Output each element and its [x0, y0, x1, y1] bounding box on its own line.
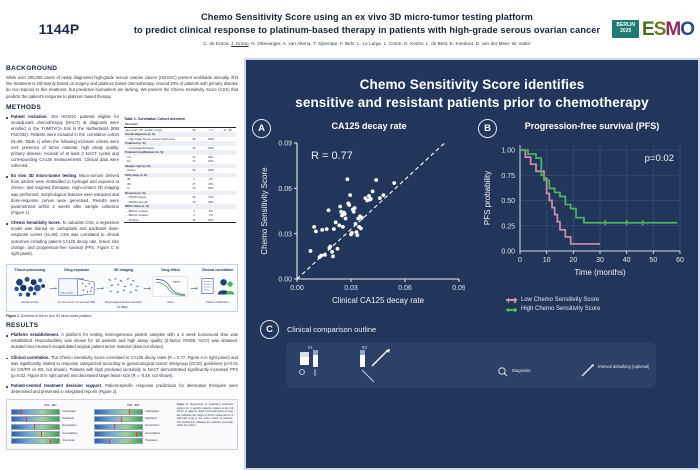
- right-panel-headline: Chemo Sensitivity Score identifies sensi…: [246, 60, 698, 112]
- step-sublabel: Ex vivo tumor in preserved TME: [58, 301, 96, 304]
- background-paragraph: While over 200,000 cases of newly diagno…: [6, 75, 238, 100]
- scatter-point: [327, 208, 331, 212]
- drug-range-bar: [11, 424, 60, 430]
- scatter-point: [350, 231, 354, 235]
- correlation-annotation: R = 0.77: [311, 150, 353, 162]
- scatter-point: [337, 223, 341, 227]
- drug-name-label: Gemcitabine: [145, 433, 160, 436]
- y-tick-label: 0.75: [501, 173, 515, 180]
- legend-label-low: Low Chemo Sensitivity Score: [521, 296, 599, 306]
- scatter-point: [355, 233, 359, 237]
- km-legend: Low Chemo Sensitivity Score High Chemo S…: [472, 296, 698, 315]
- workflow-duration: 14 days: [11, 305, 233, 309]
- bullet-lead: Clinical correlation.: [11, 355, 50, 360]
- pfs-km-svg: 0.000.250.500.751.000102030405060p=0.02P…: [478, 133, 692, 293]
- x-tick-label: 10: [543, 257, 551, 264]
- figure1-caption: Figure 1. Overview of the ex vivo 3D mic…: [6, 314, 238, 318]
- figure1-workflow: Tissue processing: [6, 264, 238, 312]
- workflow-step-drug-effect: Drug effect patient Dose: [152, 268, 190, 304]
- y-tick-label: 0.06: [278, 186, 292, 193]
- scatter-point: [378, 196, 382, 200]
- drug-response-row: Carboplatin: [11, 409, 90, 415]
- drug-range-bar: [94, 416, 143, 422]
- headline-line1: Chemo Sensitivity Score identifies: [260, 76, 684, 94]
- patient-percentile-marker: [21, 409, 22, 414]
- x-tick-label: 0: [518, 257, 522, 264]
- drug-panel-left: VCL_567 CarboplatinPaclitaxelDoxorubicin…: [11, 403, 90, 445]
- scatter-point: [328, 244, 332, 248]
- scatter-point: [374, 178, 378, 182]
- arrow-right-icon: ⟶: [96, 286, 105, 292]
- bullet-lead: Patient inclusion.: [11, 114, 48, 119]
- drug-response-row: Doxorubicin: [94, 424, 173, 430]
- congress-location-badge: BERLIN 2025: [612, 20, 639, 38]
- marker-1-label: #1: [308, 345, 313, 350]
- scatter-point: [382, 193, 386, 197]
- esmo-wordmark: ESMO: [642, 20, 694, 39]
- step-sublabel: Ascites sample: [11, 301, 49, 304]
- drug-response-row: Gemcitabine: [11, 431, 90, 437]
- cell-label: - Wildtype: [124, 218, 186, 223]
- cell-value: [219, 218, 236, 223]
- panel-c: C Clinical comparison outline: [246, 320, 698, 388]
- cell-value: 84%: [202, 218, 219, 223]
- presenting-author: J. Kroep: [231, 41, 249, 46]
- methods-row: Patient inclusion. 104 HGSOC patients el…: [6, 114, 238, 261]
- authors-pre: C. de Kroon,: [203, 41, 231, 46]
- svg-text:patient: patient: [172, 280, 180, 283]
- drug-response-row: Topotecan: [11, 438, 90, 444]
- results-bullet: Patient-centred treatment decision suppo…: [6, 383, 238, 395]
- methods-bullet-list: Patient inclusion. 104 HGSOC patients el…: [6, 114, 119, 261]
- drug-rows-left: CarboplatinPaclitaxelDoxorubicinGemcitab…: [11, 409, 90, 445]
- dose-response-curve-icon: patient: [152, 274, 190, 300]
- panel-b-title: Progression-free survival (PFS): [472, 121, 698, 131]
- step-title: Drug exposure: [58, 268, 96, 272]
- table-caption: Table 1. Correlation Cohort overview: [124, 117, 236, 121]
- scatter-point: [331, 254, 335, 258]
- scatter-point: [320, 228, 324, 232]
- abstract-number: 1144P: [0, 21, 118, 37]
- bullet-text: To calculate CSS, a regression model was…: [11, 220, 119, 256]
- scatter-point: [332, 227, 336, 231]
- well-plate-icon: 384-well plate: [58, 274, 96, 300]
- scatter-point: [330, 250, 334, 254]
- poster-title: Chemo Sensitivity Score using an ex vivo…: [122, 11, 612, 38]
- y-tick-label: 0.09: [278, 140, 292, 147]
- scatter-point: [352, 209, 356, 213]
- step-title: Clinical correlation: [199, 268, 237, 272]
- results-heading: RESULTS: [6, 322, 238, 329]
- background-heading: BACKGROUND: [6, 65, 238, 72]
- scatter-point: [371, 189, 375, 193]
- drug-range-bar: [11, 431, 60, 437]
- timeline-label-diagnosis: Diagnosis: [512, 368, 530, 373]
- scatter-point: [309, 249, 313, 253]
- imaging-speckle-icon: [105, 274, 143, 300]
- workflow-steps: Tissue processing: [11, 268, 233, 304]
- scatter-point: [323, 253, 327, 257]
- step-sublabel: Morphological feature extraction: [105, 301, 143, 304]
- marker-2-label: #2: [362, 345, 367, 350]
- step-title: 3D imaging: [105, 268, 143, 272]
- legend-item-high: High Chemo Sensitivity Score: [506, 305, 698, 315]
- x-tick-label: 50: [649, 257, 657, 264]
- drug-name-label: Carboplatin: [62, 411, 76, 414]
- panel-a-title: CA125 decay rate: [246, 121, 472, 131]
- scatter-point: [314, 229, 318, 233]
- panel-c-header: C Clinical comparison outline: [260, 320, 688, 339]
- x-tick-label: 0.00: [290, 285, 304, 292]
- drug-name-label: Doxorubicin: [62, 425, 76, 428]
- scatter-point: [341, 225, 345, 229]
- figure2-caption-text: Responses to evaluated treatment options…: [177, 403, 233, 427]
- drug-name-label: Doxorubicin: [145, 425, 159, 428]
- sample-id-right: VCL_891: [94, 403, 173, 407]
- x-tick-label: 40: [623, 257, 631, 264]
- x-tick-label: 0.03: [344, 285, 358, 292]
- cohort-table-body: ParameterAge (years, SD, median, range)5…: [124, 122, 236, 223]
- drug-panel-right: VCL_891 CarboplatinPaclitaxelDoxorubicin…: [94, 403, 173, 445]
- scatter-point: [392, 181, 396, 185]
- patient-percentile-marker: [109, 439, 110, 444]
- poster-root: 1144P Chemo Sensitivity Score using an e…: [0, 0, 700, 470]
- y-tick-label: 0.03: [278, 231, 292, 238]
- esmo-letter-o: O: [680, 20, 694, 39]
- arrow-right-icon: ⟶: [143, 286, 152, 292]
- scatter-point: [325, 227, 329, 231]
- scatter-point: [359, 226, 363, 230]
- patient-percentile-marker: [41, 432, 42, 437]
- congress-year: 2025: [616, 29, 635, 35]
- drug-response-row: Topotecan: [94, 438, 173, 444]
- esmo-logo: BERLIN 2025 ESMO: [616, 20, 700, 39]
- bullet-text: Micro-tumors derived from ascites were e…: [11, 173, 119, 215]
- drug-name-label: Carboplatin: [145, 411, 159, 414]
- methods-heading: METHODS: [6, 104, 238, 111]
- bullet-lead: Ex vivo 3D micro-tumor testing.: [11, 173, 77, 178]
- legend-label-high: High Chemo Sensitivity Score: [521, 305, 600, 315]
- methods-bullet: Patient inclusion. 104 HGSOC patients el…: [6, 114, 119, 169]
- arrow-right-icon: ⟶: [189, 286, 198, 292]
- step-title: Drug effect: [152, 268, 190, 272]
- drug-range-bar: [11, 416, 60, 422]
- x-axis-label: Clinical CA125 decay rate: [332, 296, 425, 305]
- patient-percentile-marker: [50, 439, 51, 444]
- scatter-point: [354, 222, 358, 226]
- legend-item-low: Low Chemo Sensitivity Score: [506, 296, 698, 306]
- drug-rows-right: CarboplatinPaclitaxelDoxorubicinGemcitab…: [94, 409, 173, 445]
- results-bullet: Clinical correlation. The Chemo Sensitiv…: [6, 355, 238, 380]
- patient-percentile-marker: [34, 424, 35, 429]
- esmo-letter-e: E: [642, 20, 654, 39]
- arrow-right-icon: ⟶: [49, 286, 58, 292]
- y-axis-label: PFS probability: [483, 171, 492, 225]
- figure2-drug-response: VCL_567 CarboplatinPaclitaxelDoxorubicin…: [6, 399, 238, 449]
- workflow-step-3d-imaging: 3D imaging: [105, 268, 143, 304]
- scatter-chart-host: 0.000.030.060.090.000.030.060.09R = 0.77…: [246, 133, 472, 315]
- patient-percentile-marker: [121, 417, 122, 422]
- drug-range-bar: [94, 424, 143, 430]
- scatter-point: [319, 253, 323, 257]
- x-tick-label: 0.09: [452, 285, 465, 292]
- drug-name-label: Topotecan: [145, 440, 157, 443]
- drug-response-row: Paclitaxel: [11, 416, 90, 422]
- scatter-point: [360, 216, 364, 220]
- ascites-cells-icon: [11, 274, 49, 300]
- drug-response-row: Doxorubicin: [11, 424, 90, 430]
- drug-range-bar: [11, 438, 60, 444]
- author-list: C. de Kroon, J. Kroep, N. Ottevanger, A.…: [122, 41, 612, 47]
- panel-c-title: Clinical comparison outline: [287, 325, 376, 334]
- drug-range-bar: [94, 431, 143, 437]
- headline-line2: sensitive and resistant patients prior t…: [260, 94, 684, 112]
- results-bullet: Platform establishment. A platform for t…: [6, 332, 238, 350]
- methods-bullet: Ex vivo 3D micro-tumor testing. Micro-tu…: [6, 173, 119, 216]
- y-tick-label: 1.00: [501, 147, 515, 154]
- scatter-point: [369, 197, 373, 201]
- svg-text:384-well plate: 384-well plate: [60, 292, 74, 295]
- ca125-scatter-svg: 0.000.030.060.090.000.030.060.09R = 0.77…: [253, 133, 465, 315]
- scatter-point: [343, 212, 347, 216]
- patient-report-icon: [199, 274, 237, 300]
- workflow-step-clinical-correlation: Clinical correlation: [199, 268, 237, 304]
- legend-swatch-high-icon: [506, 309, 517, 311]
- bullet-lead: Platform establishment.: [11, 332, 59, 337]
- x-axis-label: Time (months): [574, 268, 626, 277]
- bullet-lead: Patient-centred treatment decision suppo…: [11, 383, 102, 388]
- step-sublabel: Patient stratification: [199, 301, 237, 304]
- drug-range-bar: [11, 409, 60, 415]
- header-center: Chemo Sensitivity Score using an ex vivo…: [118, 11, 616, 48]
- drug-name-label: Topotecan: [62, 440, 74, 443]
- poster-header: 1144P Chemo Sensitivity Score using an e…: [0, 0, 700, 59]
- panel-b: B Progression-free survival (PFS) 0.000.…: [472, 121, 698, 315]
- charts-row: A CA125 decay rate 0.000.030.060.090.000…: [246, 121, 698, 315]
- scatter-point: [344, 216, 348, 220]
- correlation-cohort-table: ParameterAge (years, SD, median, range)5…: [124, 122, 236, 223]
- esmo-letter-s: S: [654, 20, 666, 39]
- clinical-timeline-card: #1 #2 Diagnosis Interval debulking (opti…: [286, 342, 656, 388]
- scatter-point: [338, 204, 342, 208]
- x-tick-label: 0.06: [398, 285, 412, 292]
- poster-title-line2: to predict clinical response to platinum…: [122, 24, 612, 37]
- patient-percentile-marker: [129, 409, 130, 414]
- panel-a: A CA125 decay rate 0.000.030.060.090.000…: [246, 121, 472, 315]
- bullet-text: 104 HGSOC patients eligible for neoadjuv…: [11, 114, 119, 168]
- left-text-column: BACKGROUND While over 200,000 cases of n…: [0, 58, 244, 470]
- drug-name-label: Paclitaxel: [145, 418, 157, 421]
- scatter-point: [347, 203, 351, 207]
- figure1-caption-label: Figure 1.: [6, 314, 20, 318]
- drug-name-label: Gemcitabine: [62, 433, 77, 436]
- esmo-letter-m: M: [665, 20, 680, 39]
- sample-id-left: VCL_567: [11, 403, 90, 407]
- patient-percentile-marker: [26, 417, 27, 422]
- bullet-lead: Chemo Sensitivity Score.: [11, 220, 61, 225]
- drug-name-label: Paclitaxel: [62, 418, 74, 421]
- y-tick-label: 0.00: [278, 276, 292, 283]
- scatter-point: [346, 177, 350, 181]
- poster-title-line1: Chemo Sensitivity Score using an ex vivo…: [122, 11, 612, 24]
- cell-value: 49: [186, 218, 203, 223]
- methods-bullet: Chemo Sensitivity Score. To calculate CS…: [6, 220, 119, 257]
- x-tick-label: 60: [676, 257, 684, 264]
- scatter-point: [336, 247, 340, 251]
- y-tick-label: 0.25: [501, 223, 515, 230]
- drug-response-row: Gemcitabine: [94, 431, 173, 437]
- pvalue-annotation: p=0.02: [645, 153, 674, 164]
- x-tick-label: 30: [596, 257, 604, 264]
- y-tick-label: 0.00: [501, 248, 515, 255]
- step-title: Tissue processing: [11, 268, 49, 272]
- km-chart-host: 0.000.250.500.751.000102030405060p=0.02P…: [472, 133, 698, 293]
- scatter-point: [353, 206, 357, 210]
- drug-response-row: Carboplatin: [94, 409, 173, 415]
- scatter-point: [312, 225, 316, 229]
- results-bullet-list: Platform establishment. A platform for t…: [6, 332, 238, 395]
- patient-percentile-marker: [114, 424, 115, 429]
- timeline-label-interval-debulking: Interval debulking (optional): [598, 364, 652, 369]
- step-sublabel: Dose: [152, 301, 190, 304]
- scatter-point: [348, 193, 352, 197]
- figure2-caption: Figure 2. Responses to evaluated treatme…: [177, 403, 233, 445]
- table-row: - Wildtype4984%: [124, 218, 236, 223]
- workflow-step-drug-exposure: Drug exposure 384-well plat: [58, 268, 96, 304]
- panel-c-badge: C: [260, 320, 279, 339]
- right-results-panel: Chemo Sensitivity Score identifies sensi…: [244, 58, 700, 470]
- figure1-caption-text: Overview of the ex vivo 3D micro-tumor p…: [20, 314, 92, 318]
- y-tick-label: 0.50: [501, 198, 515, 205]
- patient-percentile-marker: [136, 432, 137, 437]
- drug-response-row: Paclitaxel: [94, 416, 173, 422]
- workflow-step-tissue-processing: Tissue processing: [11, 268, 49, 304]
- drug-range-bar: [94, 409, 143, 415]
- y-axis-label: Chemo Sensitivity Score: [260, 167, 269, 255]
- x-tick-label: 20: [569, 257, 577, 264]
- scatter-point: [334, 220, 338, 224]
- legend-swatch-low-icon: [506, 299, 517, 301]
- authors-post: , N. Ottevanger, A. van Altena, T. Sijse…: [249, 41, 531, 46]
- drug-range-bar: [94, 438, 143, 444]
- cohort-table-wrapper: Table 1. Correlation Cohort overview Par…: [124, 114, 236, 261]
